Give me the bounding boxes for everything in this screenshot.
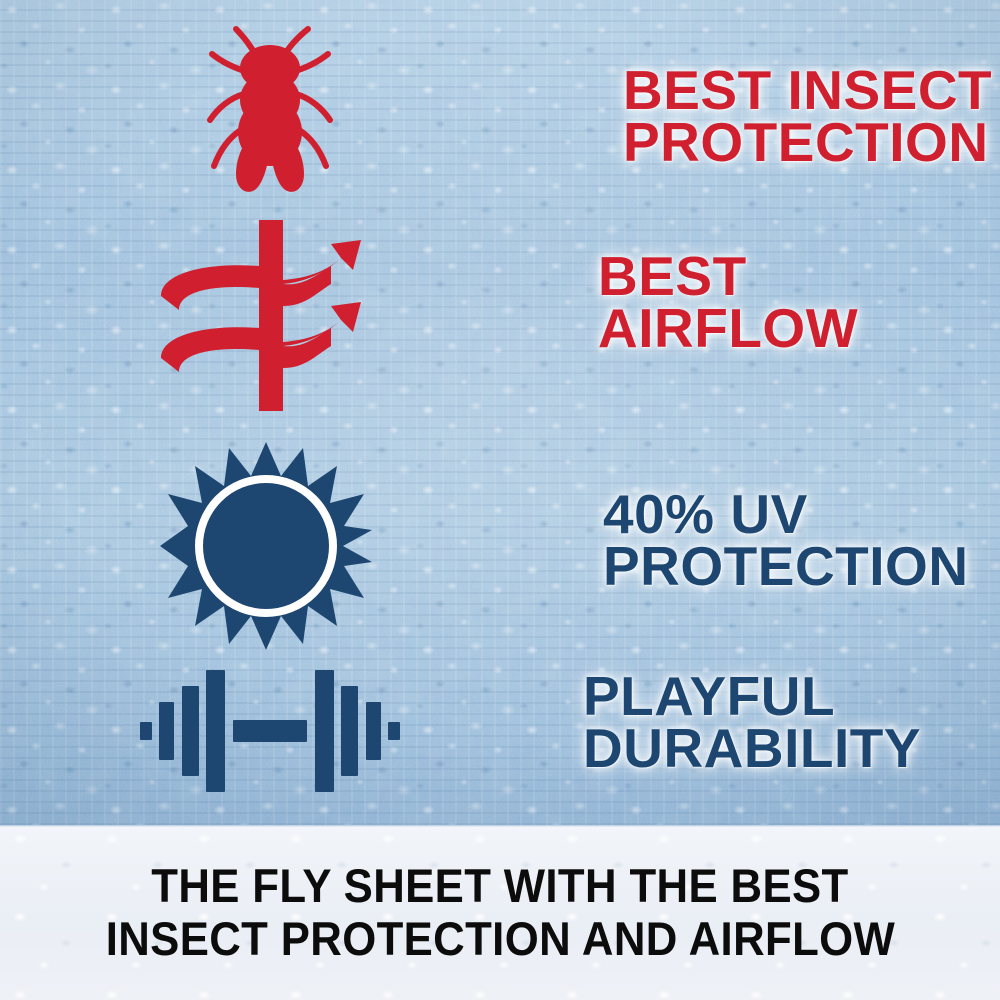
dumbbell-icon xyxy=(140,660,400,800)
feature-line: PROTECTION xyxy=(603,540,969,592)
feature-text-durability: PLAYFUL DURABILITY xyxy=(583,670,921,775)
banner-line-2: INSECT PROTECTION AND AIRFLOW xyxy=(105,913,894,966)
feature-line: AIRFLOW xyxy=(598,302,858,354)
feature-row-uv-protection: 40% UV PROTECTION xyxy=(160,440,372,652)
feature-line: DURABILITY xyxy=(583,722,921,774)
feature-text-insect-protection: BEST INSECT PROTECTION xyxy=(623,64,992,169)
feature-line: BEST xyxy=(598,250,858,302)
bottom-caption-banner: THE FLY SHEET WITH THE BEST INSECT PROTE… xyxy=(0,825,1000,1000)
fly-icon xyxy=(180,22,360,202)
feature-row-durability: PLAYFUL DURABILITY xyxy=(140,660,400,800)
feature-line: PROTECTION xyxy=(623,116,992,168)
feature-row-insect-protection: BEST INSECT PROTECTION xyxy=(180,22,360,202)
feature-line: BEST INSECT xyxy=(623,64,992,116)
feature-text-airflow: BEST AIRFLOW xyxy=(598,250,858,355)
infographic-canvas: BEST INSECT PROTECTION xyxy=(0,0,1000,1000)
banner-line-1: THE FLY SHEET WITH THE BEST xyxy=(151,860,848,913)
sun-uv-icon xyxy=(160,440,372,652)
feature-row-airflow: BEST AIRFLOW xyxy=(155,218,385,413)
banner-top-edge xyxy=(0,825,1000,827)
feature-text-uv-protection: 40% UV PROTECTION xyxy=(603,488,969,593)
feature-line: PLAYFUL xyxy=(583,670,921,722)
feature-line: 40% UV xyxy=(603,488,969,540)
airflow-icon xyxy=(155,218,385,413)
